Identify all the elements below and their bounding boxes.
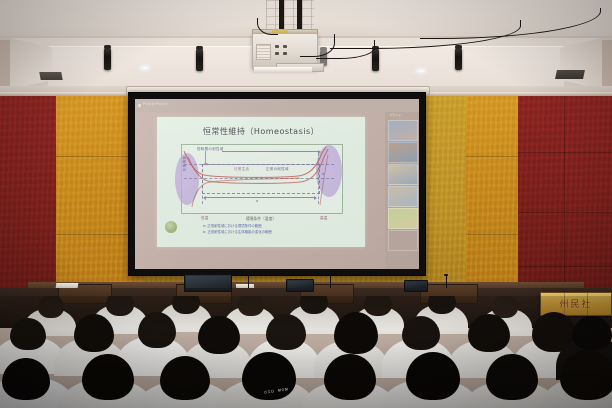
projected-toolbar: PowerPoint [135,99,419,112]
microphone-head [328,272,332,274]
student-head [74,314,114,352]
student-head [572,316,612,350]
app-title: PowerPoint [143,102,168,106]
microphone-head [246,270,250,272]
student-head [334,312,378,354]
chart-x-axis-label: 環境条件（温度） [157,216,365,222]
microphone-stand [248,272,249,288]
slide-footnotes: a: 正常耐性域における環境条件の範囲 b: 正常耐性域における生体機能の変化の… [203,223,272,235]
thumbnail-item[interactable] [388,230,418,251]
wall-panel-gold-right [466,94,518,308]
student-head [2,358,50,400]
thumbnail-item[interactable] [388,142,418,163]
spotlight-icon [196,49,203,71]
paper-stack [56,283,79,288]
student-head [402,316,440,350]
presenter-monitor[interactable] [184,274,232,292]
chart-label-daily-life: 日常生活 [234,167,249,172]
projector-knob [275,52,279,55]
thumbnail-item[interactable] [388,164,418,185]
school-emblem-icon [165,221,177,233]
student-head [266,314,306,350]
lecture-hall-photo: PowerPoint スライド 恒常性維持（Homeostasis） [0,0,612,408]
footnote-b: b: 正常耐性域における生体機能の変化の範囲 [203,229,272,235]
microphone-head [444,274,448,276]
chart-x-tick-low: 低温 [201,216,208,221]
projector-knob [275,45,279,48]
slide-thumbnail-strip[interactable]: スライド [385,112,419,269]
projector-lens-plate [254,67,312,72]
chart-label-b: b [322,172,325,176]
thumbnail-item[interactable] [388,120,418,141]
screen-surface: PowerPoint スライド 恒常性維持（Homeostasis） [135,99,419,269]
thumbnail-strip-label: スライド [389,113,401,117]
paper-stack [236,284,254,288]
projector-knob [283,52,287,55]
projector-knob [283,45,287,48]
chart-arrow-short-tolerance [222,151,320,152]
app-icon [138,104,141,107]
chart-curves [182,145,342,213]
student-head [82,354,134,400]
student-head [238,296,264,316]
student-head [138,312,176,348]
projector-vent [256,44,271,60]
student-head [486,354,538,400]
homeostasis-chart: 日常生活 正常の耐性域 a b [181,144,343,214]
spotlight-icon [372,49,379,71]
chart-x-tick-high: 高温 [320,216,327,221]
downlight-icon [140,66,150,70]
student-head [560,350,612,400]
microphone-stand [446,276,447,288]
student-head [160,356,210,400]
wall-panel-red-left [0,94,56,308]
student-head [106,296,134,316]
chart-y-axis-label: 生体機能 [183,148,188,180]
student-head [364,296,392,316]
thumbnail-item[interactable] [388,186,418,207]
chart-label-normal-tolerance: 正常の耐性域 [266,167,289,172]
slide-title: 恒常性維持（Homeostasis） [157,126,365,137]
student-head [198,316,240,354]
projection-screen: PowerPoint スライド 恒常性維持（Homeostasis） [128,92,426,276]
ceiling-vent-left [39,72,62,80]
chart-label-a: a [256,199,258,203]
student-head [10,318,46,350]
student-head [38,296,64,318]
spotlight-icon [455,48,462,70]
student-head [406,352,460,400]
spotlight-icon [104,48,111,70]
chart-label-short-tolerance: 短時間の耐性域 [197,147,224,152]
presentation-slide: 恒常性維持（Homeostasis） [157,117,365,247]
downlight-icon [416,69,426,73]
presenter-monitor[interactable] [286,279,314,292]
chart-arrow-range-a [204,197,316,198]
chart-arrow-down [205,151,206,163]
wall-panel-red-right [518,94,612,308]
student-head [468,314,510,352]
audience-seating: ᴏɪᴅ ᴍᴏᴍ [0,296,612,408]
student-head [324,354,376,400]
thumbnail-item[interactable] [388,208,418,229]
microphone-stand [330,274,331,288]
presenter-monitor[interactable] [404,280,428,292]
ceiling-vent-right [555,70,585,79]
